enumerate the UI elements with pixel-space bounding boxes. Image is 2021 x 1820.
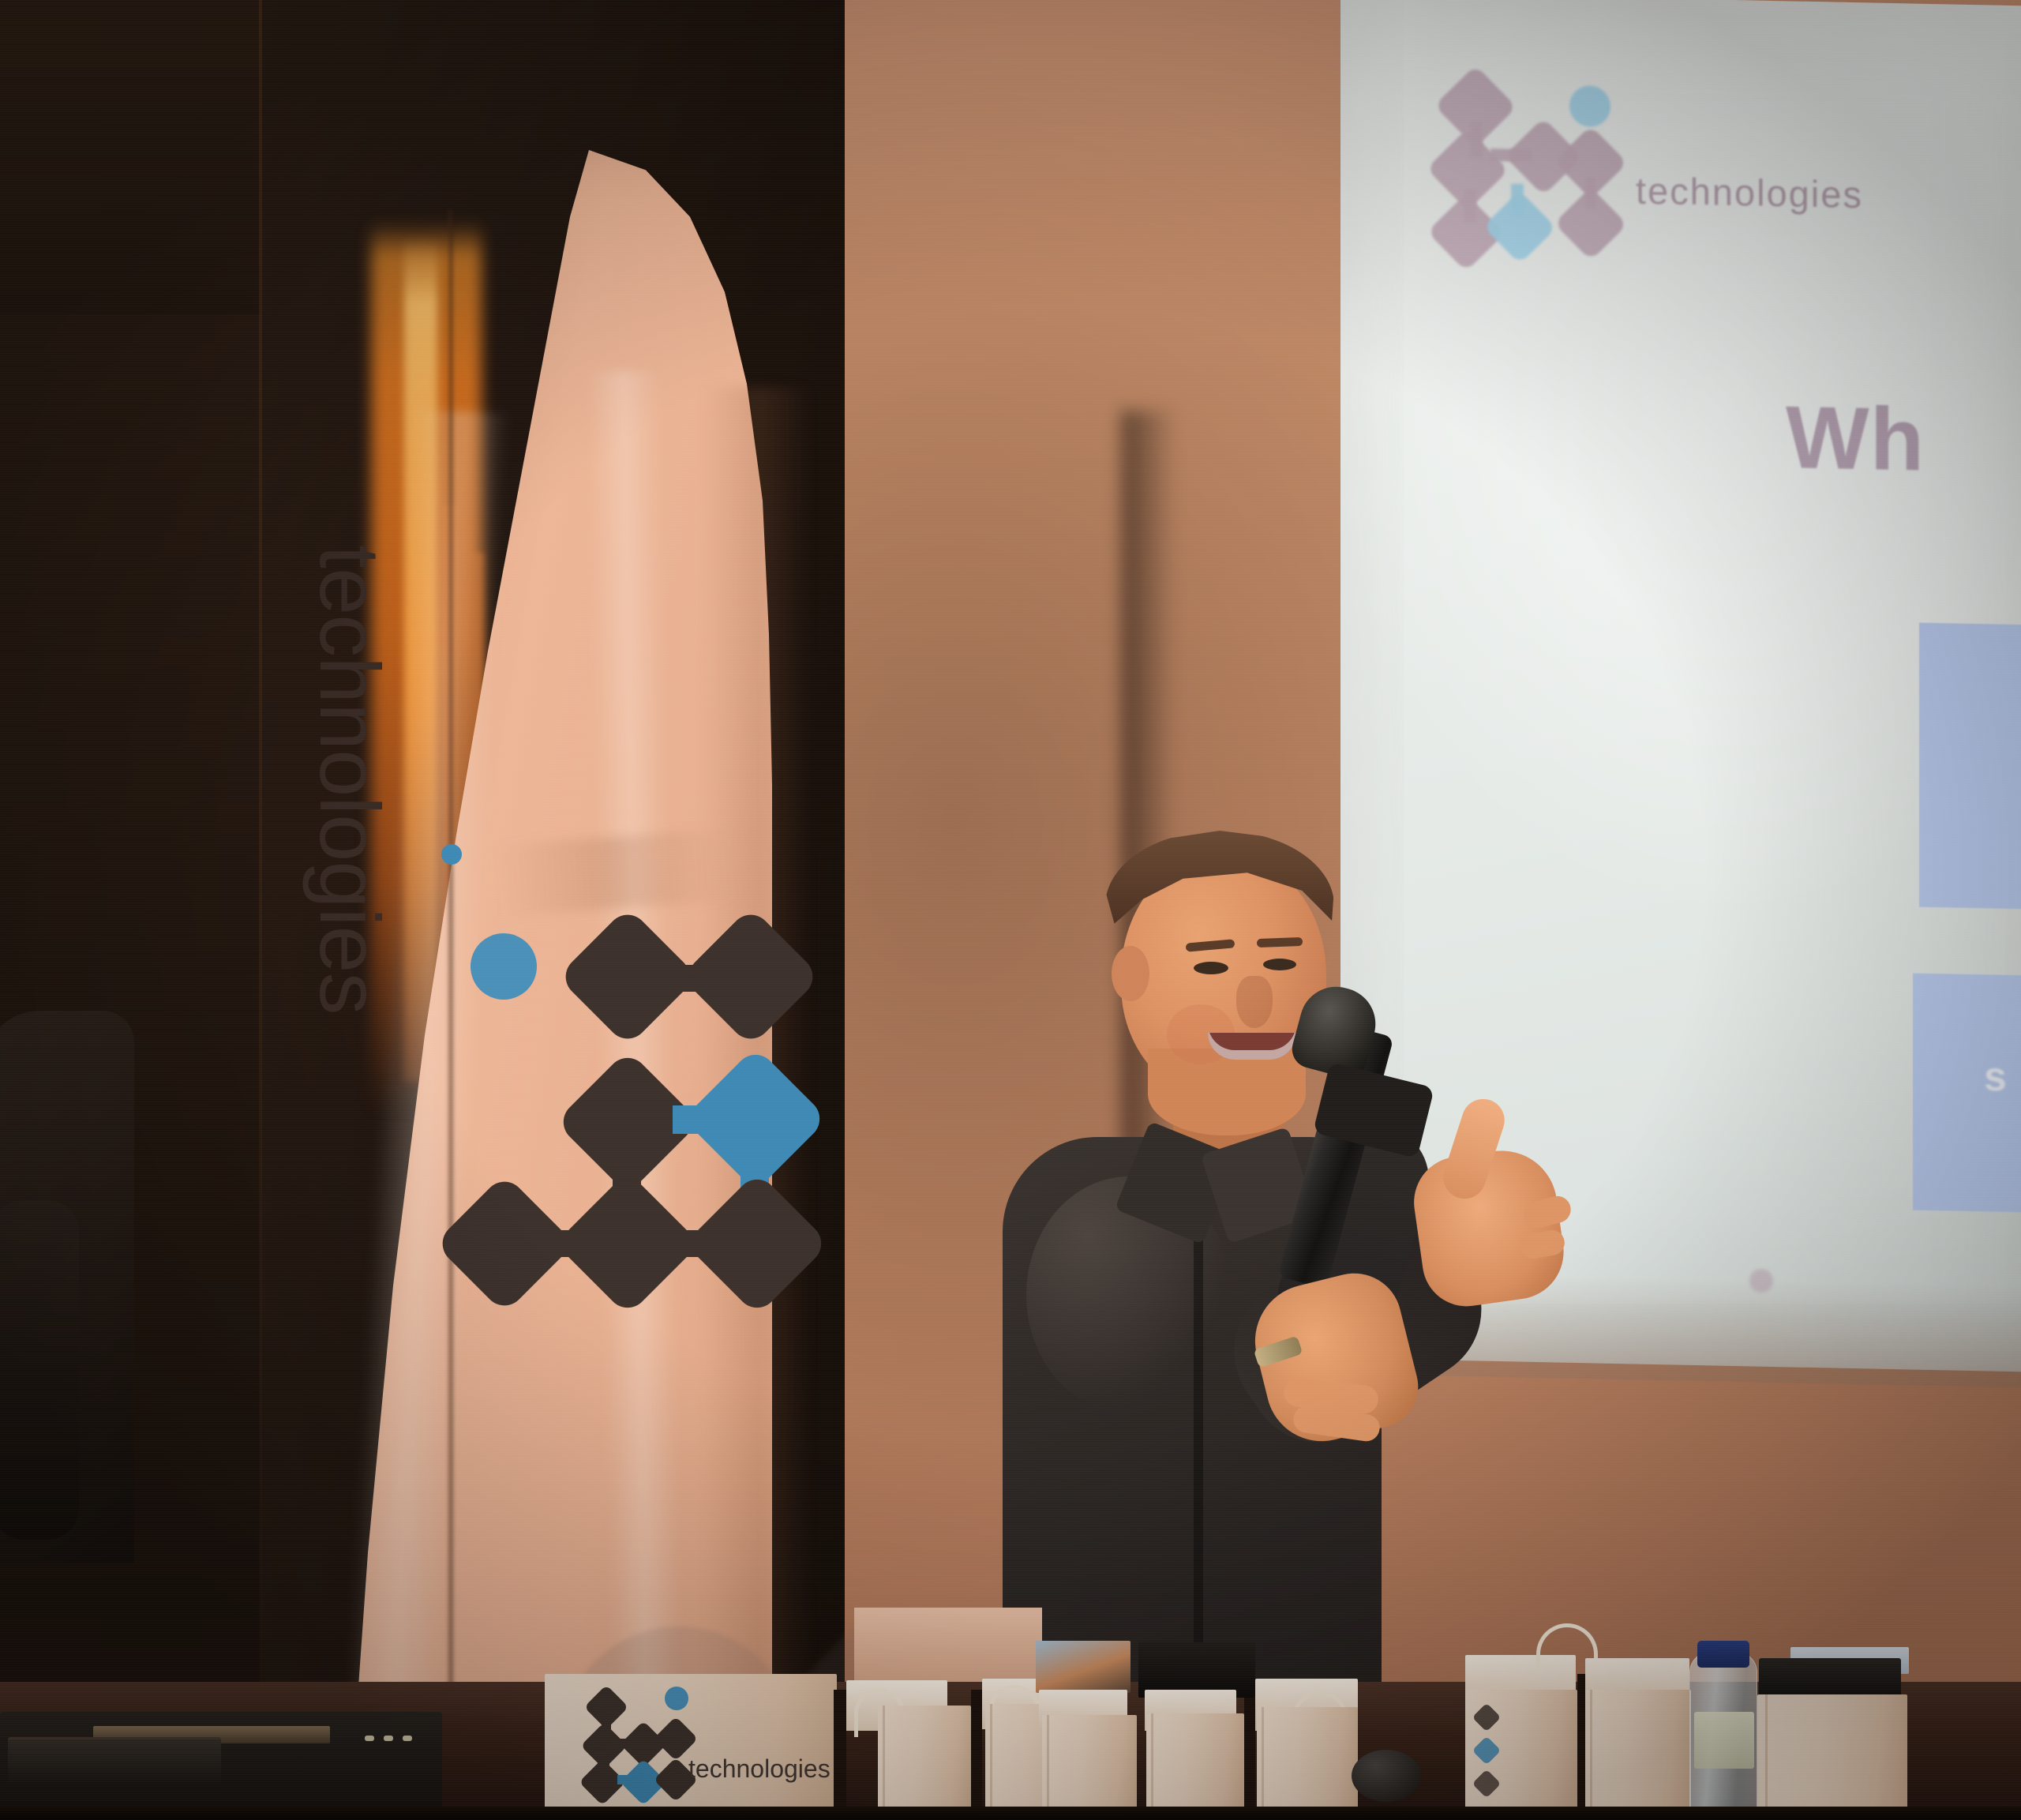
presenter-ear <box>1112 946 1149 1001</box>
bag-gap <box>971 1690 982 1820</box>
bag-logo-mark: technologies <box>562 1718 799 1794</box>
water-bottle-label <box>1694 1712 1754 1769</box>
gift-bag <box>1757 1694 1907 1820</box>
dark-giveaway-box <box>1759 1658 1901 1699</box>
stage-edge <box>0 1807 2021 1820</box>
presenter-eyebrow <box>1257 937 1303 948</box>
gift-bag <box>878 1706 971 1820</box>
status-led-icon <box>365 1736 374 1741</box>
logo-node <box>1472 1703 1502 1732</box>
slide-bullet-dot-icon <box>1749 1269 1773 1293</box>
status-led-icon <box>384 1736 393 1741</box>
slide-heading: Wh <box>1786 386 2021 493</box>
bag-fold <box>1262 1707 1264 1820</box>
presenter-shirt-placket <box>1194 1208 1203 1713</box>
gift-bag <box>1465 1690 1577 1820</box>
logo-node <box>681 906 821 1047</box>
table-microphone <box>1352 1750 1421 1802</box>
banner-wordmark: technologies <box>301 545 399 1014</box>
banner-wordmark-dot-icon <box>441 844 462 865</box>
gift-bag <box>1257 1707 1358 1820</box>
bag-gap <box>834 1690 846 1820</box>
photo-canvas: technologies Wh s technologies <box>0 0 2021 1820</box>
presenter-eye <box>1194 962 1228 974</box>
backdrop-panel-upper <box>0 0 261 316</box>
banner-logo-mark <box>458 924 868 1342</box>
gift-bag <box>1042 1715 1137 1820</box>
bag-fold <box>1765 1694 1768 1820</box>
gift-bag <box>1585 1690 1691 1820</box>
laptop <box>8 1737 221 1789</box>
water-bottle-cap <box>1697 1641 1749 1668</box>
slide-logo-wordmark: technologies <box>1636 169 1863 217</box>
bag-gap <box>1244 1698 1255 1820</box>
slide-block-text: s <box>1984 1053 2007 1101</box>
presenter-nose <box>1236 976 1273 1028</box>
bag-fold <box>990 1704 992 1820</box>
feather-flag-banner: technologies <box>261 150 892 1820</box>
gift-bag <box>1146 1713 1244 1820</box>
logo-dot-blue <box>1569 85 1610 127</box>
presenter-jaw <box>1148 1049 1306 1135</box>
logo-node-blue <box>1472 1736 1502 1766</box>
bag-logo-wordmark: technologies <box>688 1754 831 1784</box>
status-led-icon <box>403 1736 412 1741</box>
slide-logo: technologies <box>1429 72 1792 245</box>
logo-dot-blue <box>665 1687 688 1710</box>
bag-fold <box>883 1706 885 1820</box>
logo-node <box>1472 1769 1502 1799</box>
printed-card-box <box>1036 1641 1130 1693</box>
seated-attendee-arm <box>0 1200 79 1540</box>
banner-pole <box>447 209 454 1820</box>
presenter-eye <box>1263 959 1296 970</box>
bag-fold <box>1151 1713 1153 1820</box>
presenter-mouth-smile <box>1208 1033 1296 1060</box>
logo-node <box>684 1171 830 1316</box>
slide-content-block-1 <box>1919 623 2021 910</box>
bag-fold <box>1590 1690 1592 1820</box>
gift-bag: technologies <box>545 1674 837 1820</box>
bag-fold <box>1047 1715 1049 1820</box>
logo-dot-blue <box>471 933 537 1000</box>
